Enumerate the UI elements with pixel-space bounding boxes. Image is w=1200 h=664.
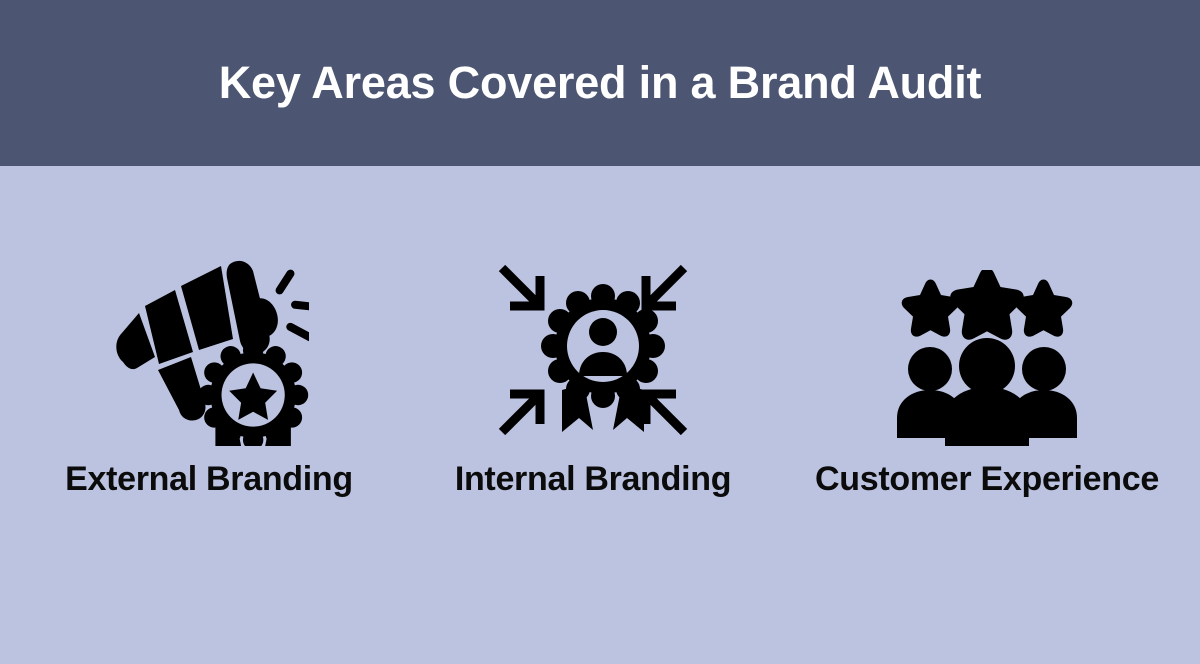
employee-badge-focus-icon (488, 256, 698, 446)
pillar-label-customer-experience: Customer Experience (815, 460, 1159, 499)
brand-audit-infographic: Key Areas Covered in a Brand Audit (0, 0, 1200, 664)
header-banner: Key Areas Covered in a Brand Audit (0, 0, 1200, 166)
pillar-label-external-branding: External Branding (65, 460, 353, 499)
page-title: Key Areas Covered in a Brand Audit (219, 58, 982, 108)
pillars-row: External Branding (0, 166, 1200, 664)
pillar-external-branding: External Branding (14, 256, 404, 499)
people-stars-rating-icon (892, 256, 1082, 446)
pillar-internal-branding: Internal Branding (398, 256, 788, 499)
pillar-label-internal-branding: Internal Branding (455, 460, 731, 499)
megaphone-award-icon (109, 256, 309, 446)
pillar-customer-experience: Customer Experience (792, 256, 1182, 499)
